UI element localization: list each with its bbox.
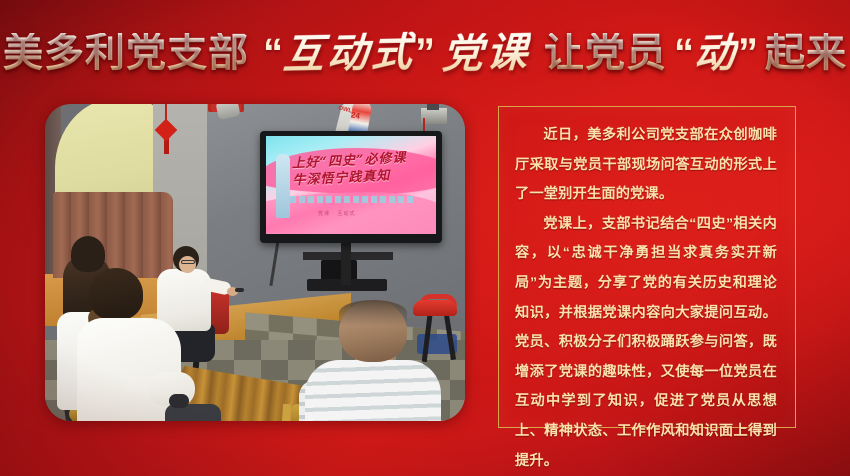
article-paragraph-2: 党课上，支部书记结合“四史”相关内容，以“忠诚干净勇担当求真务实开新局”为主题，… xyxy=(515,210,777,476)
title-segment-interactive: 互动式 xyxy=(282,31,416,75)
title-segment-let-members: 让党员 xyxy=(544,33,667,73)
poster-canvas: 美多利党支部 “ 互动式 ” 党课 让党员 “ 动 ” 起来 OWL 24 xyxy=(0,0,850,476)
title-segment-rise: 起来 xyxy=(765,33,847,73)
title-segment-move: 动 xyxy=(693,32,739,74)
photo-attendee-3-body xyxy=(305,360,441,421)
title-segment-org: 美多利党支部 xyxy=(3,33,249,73)
page-title: 美多利党支部 “ 互动式 ” 党课 让党员 “ 动 ” 起来 xyxy=(0,22,850,84)
article-paragraph-1: 近日，美多利公司党支部在众创咖啡厅采取与党员干部现场问答互动的形式上了一堂别开生… xyxy=(515,121,777,210)
article-panel: 近日，美多利公司党支部在众创咖啡厅采取与党员干部现场问答互动的形式上了一堂别开生… xyxy=(498,106,796,428)
photo-slide-monument xyxy=(276,154,290,218)
title-quote-close: ” xyxy=(415,33,435,73)
title-segment-lesson: 党课 xyxy=(441,32,531,75)
photo-shelf-item xyxy=(427,104,439,110)
photo-attendee-1-head xyxy=(71,236,105,272)
photo-slide-dots xyxy=(290,196,416,203)
photo-presenter-glasses xyxy=(181,260,195,264)
photo-presenter-face xyxy=(179,256,196,273)
photo-attendee-2-head xyxy=(89,268,143,320)
title-quote-open-2: “ xyxy=(674,33,694,73)
photo-presenter-remote xyxy=(235,288,244,292)
title-quote-close-2: ” xyxy=(738,33,758,73)
photo-skateboard-24-text: 24 xyxy=(350,110,360,120)
photo-tv-stand xyxy=(341,243,351,285)
photo-attendee-3-hair xyxy=(339,300,407,326)
photo-tv-equipment xyxy=(321,260,357,280)
photo-tv-screen: 上好“四史”必修课 牛深悟宁践真知 党课 · 互动式 xyxy=(266,136,436,234)
photo-chair-seat xyxy=(413,300,457,316)
photo-slide-subtitle: 党课 · 互动式 xyxy=(318,210,355,217)
event-photo: OWL 24 上好“四史”必修课 牛深悟宁践真知 党课 · 互动式 xyxy=(45,104,465,421)
photo-attendee-2-hand xyxy=(169,394,189,408)
title-quote-open: “ xyxy=(263,33,283,73)
